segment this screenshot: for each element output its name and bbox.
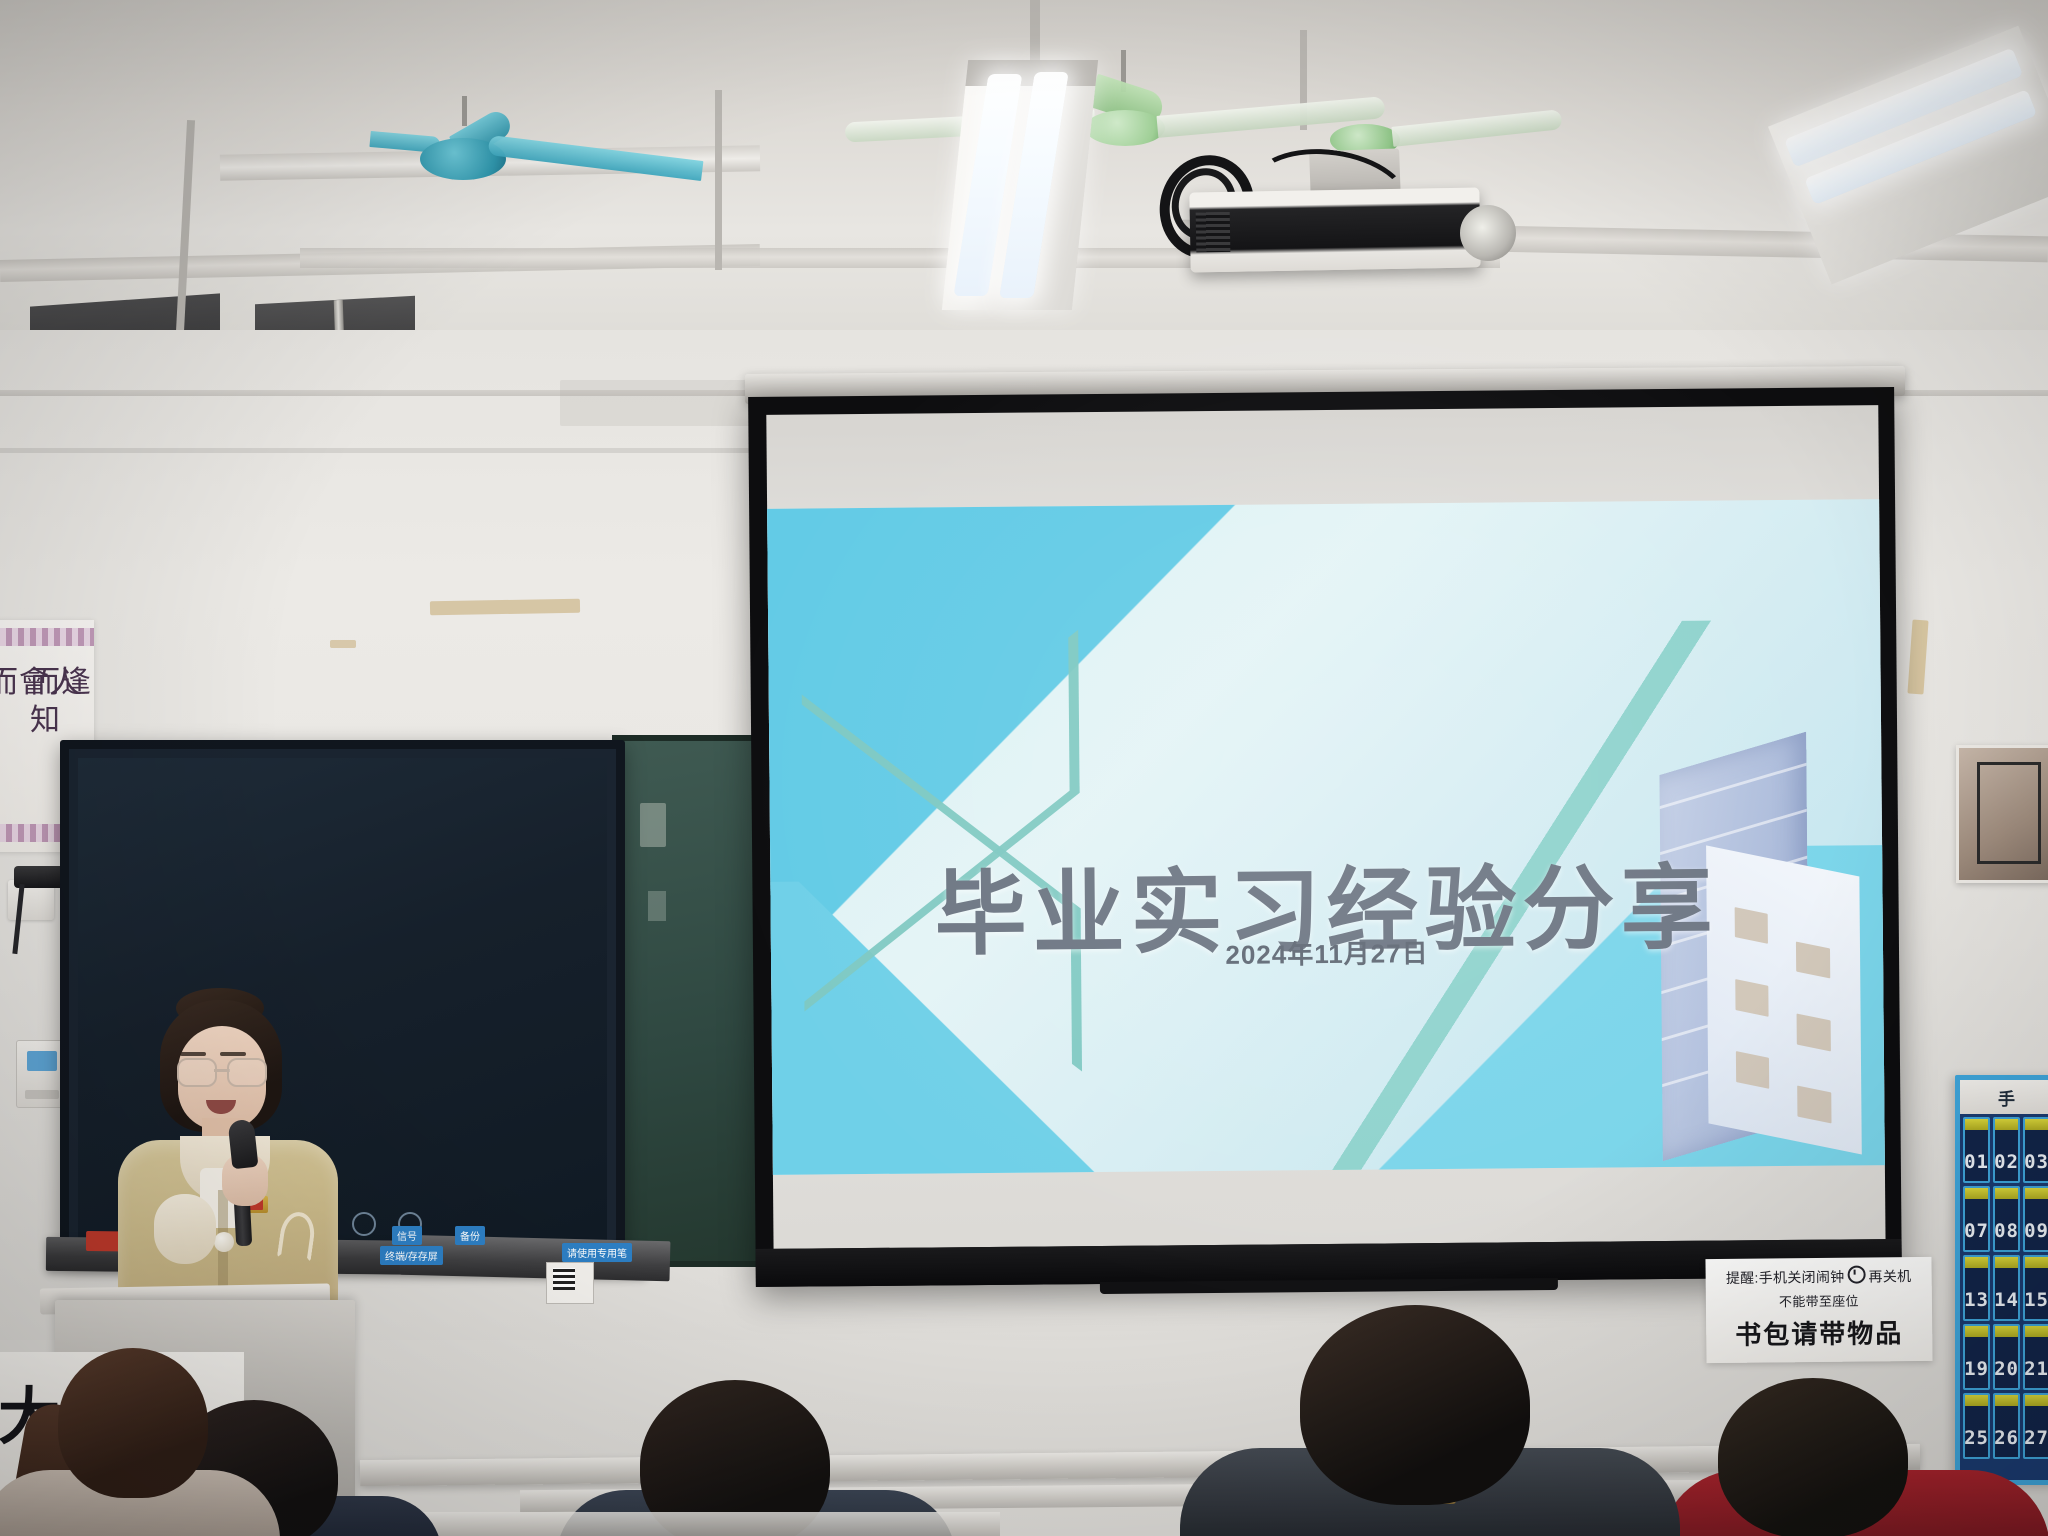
pocket-number: 19	[1964, 1358, 1989, 1380]
pocket[interactable]: 25	[1963, 1393, 1990, 1459]
pocket[interactable]: 15	[2023, 1255, 2048, 1321]
pocket-number: 21	[2024, 1358, 2048, 1380]
chalk-mark	[640, 803, 666, 847]
pocket-number: 01	[1964, 1151, 1989, 1173]
notice-line-1: 提醒:手机关闭闹钟再关机	[1710, 1265, 1928, 1288]
eyebrow-left	[180, 1052, 206, 1056]
pocket[interactable]: 13	[1963, 1255, 1990, 1321]
alarm-clock-icon	[1847, 1266, 1865, 1284]
pocket[interactable]: 03	[2023, 1117, 2048, 1183]
fluorescent-light-center	[942, 60, 1098, 310]
wall-molding-lower	[0, 448, 820, 453]
fan-hub	[1085, 110, 1165, 146]
pocket-number: 13	[1964, 1289, 1989, 1311]
projection-screen: 毕业实习经验分享 2024年11月27日	[748, 387, 1902, 1287]
pocket-number: 02	[1994, 1151, 2019, 1173]
fan-blade	[488, 135, 704, 181]
pocket[interactable]: 14	[1993, 1255, 2020, 1321]
jacket-button	[214, 1232, 234, 1252]
pocket-number: 03	[2024, 1151, 2048, 1173]
fan-blade	[1391, 109, 1562, 147]
pocket-number: 25	[1964, 1427, 1989, 1449]
projector-lens	[1460, 205, 1516, 261]
audience-left-head	[58, 1348, 208, 1498]
control-box-switch[interactable]	[25, 1090, 59, 1099]
light-cap	[965, 60, 1098, 86]
fleece-cuff	[154, 1194, 216, 1264]
ceiling-rod	[715, 90, 722, 270]
pocket[interactable]: 19	[1963, 1324, 1990, 1390]
eyeglasses-icon	[176, 1058, 268, 1084]
eyebrow-right	[220, 1052, 246, 1056]
ceiling-projector	[1189, 187, 1480, 272]
power-icon[interactable]	[352, 1212, 376, 1236]
pocket[interactable]: 20	[1993, 1324, 2020, 1390]
lens-right	[227, 1058, 267, 1087]
pocket[interactable]: 08	[1993, 1186, 2020, 1252]
classroom-scene: 而會人 而逢知 禁止使用粉笔等非专用笔 信号 备份 终端/存存屏 请使用专用笔	[0, 0, 2048, 1536]
lens-left	[177, 1058, 217, 1087]
qr-code-icon	[553, 1268, 575, 1290]
blackboard-tag-signal: 信号	[392, 1226, 422, 1245]
pocket-number: 26	[1994, 1427, 2019, 1449]
pocket-number: 09	[2024, 1220, 2048, 1242]
pocket[interactable]: 07	[1963, 1186, 1990, 1252]
pocket-number: 20	[1994, 1358, 2019, 1380]
blackboard-tag-terminal: 终端/存存屏	[380, 1246, 443, 1265]
blackboard-tag-backup: 备份	[455, 1226, 485, 1245]
chalk-mark	[648, 891, 666, 921]
phone-pocket-organizer: 手 01 02 03 07 08 09 13 14 15 19 20 21 25…	[1955, 1075, 2048, 1485]
notice-line-3: 书包请带物品	[1710, 1313, 1928, 1352]
wall-tape-patch	[330, 640, 356, 648]
notice-line-1-text: 提醒:手机关闭闹钟	[1726, 1269, 1845, 1286]
notice-line-1-suffix: 再关机	[1868, 1268, 1911, 1284]
control-box-display	[27, 1051, 57, 1071]
banner-border-pattern	[0, 628, 94, 646]
notice-line-2: 不能带至座位	[1710, 1290, 1928, 1311]
student-presenter	[118, 1000, 338, 1320]
pocket[interactable]: 09	[2023, 1186, 2048, 1252]
presentation-slide: 毕业实习经验分享 2024年11月27日	[767, 499, 1885, 1175]
phone-reminder-notice: 提醒:手机关闭闹钟再关机 不能带至座位 书包请带物品	[1705, 1257, 1932, 1363]
pocket-number: 15	[2024, 1289, 2048, 1311]
pocket-number: 27	[2024, 1427, 2048, 1449]
poster-frame-inner	[1977, 762, 2041, 864]
banner-column-right: 而逢知	[30, 664, 94, 739]
wall-stain	[560, 380, 760, 426]
pocket-number: 08	[1994, 1220, 2019, 1242]
pocket-number: 07	[1964, 1220, 1989, 1242]
blackboard-tag-pen: 请使用专用笔	[562, 1243, 632, 1262]
wall-framed-poster	[1956, 745, 2048, 883]
ceiling-fan-teal	[370, 110, 710, 200]
organizer-pocket-grid: 01 02 03 07 08 09 13 14 15 19 20 21 25 2…	[1960, 1114, 2048, 1462]
audience-red-shirt-head	[1718, 1378, 1908, 1536]
projector-vent-icon	[1196, 212, 1231, 253]
pocket[interactable]: 21	[2023, 1324, 2048, 1390]
wall-tape-patch	[430, 599, 580, 616]
pocket-number: 14	[1994, 1289, 2019, 1311]
audience-leather-jacket-head	[1300, 1305, 1530, 1505]
fan-rod	[462, 96, 467, 126]
pocket[interactable]: 27	[2023, 1393, 2048, 1459]
blackboard-qr-label	[546, 1262, 594, 1304]
organizer-header: 手	[1960, 1080, 2048, 1114]
pocket[interactable]: 02	[1993, 1117, 2020, 1183]
pocket[interactable]: 01	[1963, 1117, 1990, 1183]
pocket[interactable]: 26	[1993, 1393, 2020, 1459]
